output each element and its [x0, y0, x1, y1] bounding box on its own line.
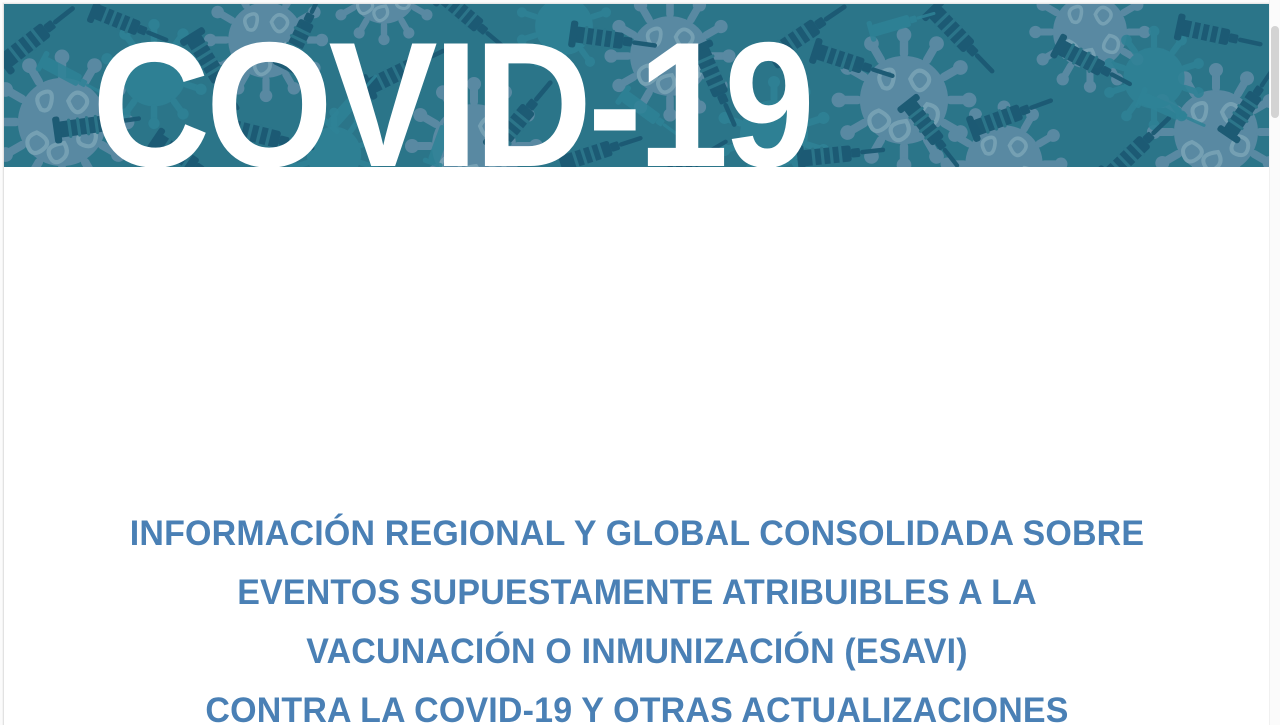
slide-title-line-2: EVENTOS SUPUESTAMENTE ATRIBUIBLES A LA	[23, 563, 1251, 622]
vertical-scrollbar-thumb[interactable]	[1271, 26, 1279, 118]
covid-banner: COVID-19	[4, 4, 1270, 167]
slide-title-line-4: CONTRA LA COVID-19 Y OTRAS ACTUALIZACION…	[23, 681, 1251, 725]
slide-title-block: INFORMACIÓN REGIONAL Y GLOBAL CONSOLIDAD…	[4, 504, 1270, 725]
document-viewer: COVID-19 INFORMACIÓN REGIONAL Y GLOBAL C…	[0, 0, 1280, 725]
slide-page: COVID-19 INFORMACIÓN REGIONAL Y GLOBAL C…	[3, 3, 1274, 725]
slide-body: INFORMACIÓN REGIONAL Y GLOBAL CONSOLIDAD…	[4, 167, 1270, 725]
virus-syringe-pattern	[4, 4, 1270, 167]
slide-title-line-1: INFORMACIÓN REGIONAL Y GLOBAL CONSOLIDAD…	[23, 504, 1251, 563]
slide-title-line-3: VACUNACIÓN O INMUNIZACIÓN (ESAVI)	[23, 622, 1251, 681]
